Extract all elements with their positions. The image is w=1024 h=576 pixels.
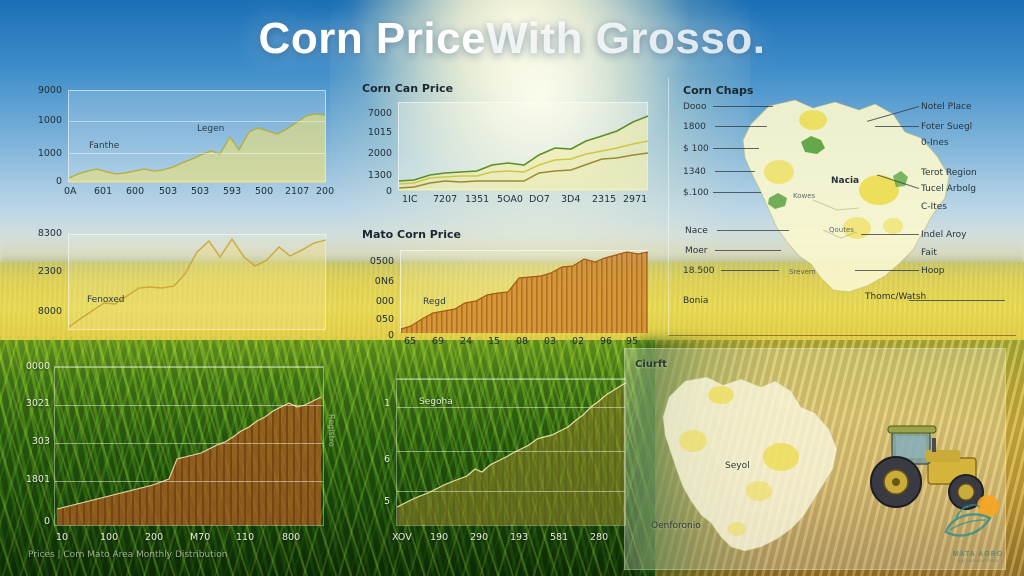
logo-name: MATA AGRO	[936, 551, 1020, 558]
tractor-window	[896, 436, 926, 458]
leader-line	[715, 250, 781, 251]
chart4-ytick-1: 0N6	[354, 276, 394, 287]
chart6-ytick-2: 5	[364, 496, 390, 507]
chart2-ytick-1: 1015	[352, 127, 392, 138]
leader-line	[713, 106, 773, 107]
chart2-xtick-0: 1IC	[402, 194, 417, 205]
chart6-xtick-2: 290	[470, 532, 488, 543]
map-top-right-label-5: C-Ites	[921, 202, 947, 212]
chart5-ytick-1: 3021	[10, 398, 50, 409]
chart2-title: Corn Can Price	[362, 82, 453, 95]
map-top-left-label-5: Nace	[685, 226, 708, 236]
map-top-right-label-8: Hoop	[921, 266, 945, 276]
logo-mark-icon	[936, 492, 1020, 550]
leader-line	[861, 234, 919, 235]
gridline	[397, 491, 625, 492]
chart1-xtick-1: 601	[94, 186, 112, 197]
map-top-left-label-1: 1800	[683, 122, 706, 132]
chart5-plot-area	[54, 366, 324, 526]
leader-line	[721, 270, 779, 271]
chart2-ytick-4: 0	[352, 186, 392, 197]
chart5-xtick-3: M70	[190, 532, 210, 543]
map-hotzone	[679, 430, 707, 452]
chart5-xtick-4: 110	[236, 532, 254, 543]
chart5-vertical-label: Registro	[327, 414, 336, 447]
chart4-xtick-7: 96	[600, 336, 612, 347]
page-title: Corn PriceWith Grosso.	[0, 14, 1024, 64]
map-top-right-label-0: Notel Place	[921, 102, 972, 112]
chart1-xtick-0: 0A	[64, 186, 77, 197]
map-top-bottom-label-0: Bonia	[683, 296, 708, 306]
chart1-xtick-5: 593	[223, 186, 241, 197]
chart1-annotation-0: Fanthe	[89, 141, 119, 151]
chart3-ytick-1: 2300	[18, 266, 62, 277]
chart5-xtick-5: 800	[282, 532, 300, 543]
chart5-ytick-3: 1801	[10, 474, 50, 485]
chart6-ytick-1: 6	[364, 454, 390, 465]
infographic-stage: Corn PriceWith Grosso. 9000 1000 1000 0 …	[0, 0, 1024, 576]
chart4-ytick-3: 050	[354, 314, 394, 325]
chart1-ytick-0: 9000	[18, 85, 62, 96]
chart5-xtick-2: 200	[145, 532, 163, 543]
map-top-left-label-2: $ 100	[683, 144, 709, 154]
chart4-ytick-0: 0500	[354, 256, 394, 267]
leader-line	[713, 192, 761, 193]
chart1-annotation-1: Legen	[197, 124, 224, 134]
chart2-xtick-3: 5OA0	[497, 194, 523, 205]
chart1-xtick-4: 503	[191, 186, 209, 197]
map-top-right-label-1: Foter Suegl	[921, 122, 972, 132]
gridline	[55, 405, 323, 406]
chart2-xtick-2: 1351	[465, 194, 489, 205]
gridline	[397, 407, 625, 408]
brand-logo: MATA AGRO Agricultural Data	[936, 492, 1020, 570]
leader-line	[715, 171, 755, 172]
chart2-series-svg	[399, 103, 649, 191]
chart3-ytick-0: 8300	[18, 228, 62, 239]
chart2-ytick-0: 7000	[352, 108, 392, 119]
chart4-xtick-0: 65	[404, 336, 416, 347]
chart2-xtick-6: 2315	[592, 194, 616, 205]
map-hotzone	[746, 481, 772, 501]
map-top-right-label-3: Terot Region	[921, 168, 977, 178]
map-bottom-bottom-label: Oenforonio	[651, 521, 701, 531]
chart4-plot-area: Regd	[400, 250, 648, 332]
map-hotzone	[708, 386, 734, 404]
chart1-xtick-2: 600	[126, 186, 144, 197]
chart6-xtick-0: XOV	[392, 532, 412, 543]
chart4-xtick-5: 03	[544, 336, 556, 347]
map-top-right-label-7: Fait	[921, 248, 937, 258]
chart2-xtick-7: 2971	[623, 194, 647, 205]
chart2-ytick-3: 1300	[352, 170, 392, 181]
map-top-left-label-4: $.100	[683, 188, 709, 198]
gridline	[69, 121, 325, 122]
chart1-xtick-6: 500	[255, 186, 273, 197]
chart5-ytick-4: 0	[10, 516, 50, 527]
map-hotzone	[763, 443, 799, 471]
chart5-ytick-0: 0000	[10, 361, 50, 372]
chart3-series-svg	[69, 235, 327, 331]
chart6-plot-area: Segoha	[396, 378, 626, 526]
map-top-inner-label-1: Qoutes	[829, 226, 854, 234]
map-hotzone	[883, 218, 903, 234]
chart5-xtick-0: 10	[56, 532, 68, 543]
chart6-ytick-0: 1	[364, 398, 390, 409]
tractor-roof	[888, 426, 936, 433]
leader-line	[909, 300, 1005, 301]
chart1-ytick-1: 1000	[18, 115, 62, 126]
logo-tagline: Agricultural Data	[936, 558, 1020, 563]
map-hotzone	[764, 160, 794, 184]
gridline	[397, 451, 625, 452]
map-hotzone	[799, 110, 827, 130]
chart4-series-svg	[401, 251, 649, 333]
map-top-center-label: Nacia	[831, 176, 859, 186]
chart2-xtick-1: 7207	[433, 194, 457, 205]
chart4-xtick-3: 15	[488, 336, 500, 347]
chart6-annotation-0: Segoha	[419, 397, 453, 407]
leaf-icon	[946, 514, 990, 535]
map-top-left-label-7: 18.500	[683, 266, 715, 276]
chart4-xtick-2: 24	[460, 336, 472, 347]
chart2-xtick-4: DO7	[529, 194, 550, 205]
gridline	[69, 153, 325, 154]
chart6-xtick-3: 193	[510, 532, 528, 543]
map-top-inner-label-0: Kowes	[793, 192, 815, 200]
page-title-overlap: With Grosso.	[486, 14, 765, 63]
map-bottom-center-label: Seyol	[725, 461, 750, 471]
chart-panel-5: 0000 3021 303 1801 0 10 100 200	[12, 356, 352, 556]
gridline	[55, 481, 323, 482]
chart-panel-4: Mato Corn Price 0500 0N6 000 050 0 Regd …	[358, 228, 658, 350]
chart6-xtick-1: 190	[430, 532, 448, 543]
map-top-left-label-6: Moer	[685, 246, 708, 256]
chart5-xtick-1: 100	[100, 532, 118, 543]
chart-panel-3: 8300 2300 8000 Fenoxed	[22, 228, 334, 348]
chart1-plot-area: Fanthe Legen	[68, 90, 326, 182]
tractor-hood	[926, 450, 960, 462]
chart4-xtick-4: 08	[516, 336, 528, 347]
chart6-xtick-5: 280	[590, 532, 608, 543]
leader-line	[717, 230, 789, 231]
chart4-annotation-0: Regd	[423, 297, 446, 307]
chart2-plot-area	[398, 102, 648, 190]
leader-line	[855, 270, 919, 271]
chart4-ytick-4: 0	[354, 330, 394, 341]
chart1-ytick-2: 1000	[18, 148, 62, 159]
map-panel-top: Corn Chaps Nacia Kowes Qoutes Srevem Doo…	[668, 78, 1016, 336]
chart4-xtick-8: 95	[626, 336, 638, 347]
chart1-xtick-8: 200	[316, 186, 334, 197]
footer-caption: Prices | Corn Mato Area Monthly Distribu…	[28, 550, 227, 560]
chart3-plot-area: Fenoxed	[68, 234, 326, 330]
chart2-xtick-5: 3D4	[561, 194, 580, 205]
chart3-ytick-2: 8000	[18, 306, 62, 317]
chart6-xtick-4: 581	[550, 532, 568, 543]
chart-panel-1: 9000 1000 1000 0 Fanthe Legen 0A 601 600…	[22, 82, 334, 202]
chart3-annotation-0: Fenoxed	[87, 295, 124, 305]
chart1-series-svg	[69, 91, 327, 183]
leader-line	[715, 126, 767, 127]
chart1-xtick-7: 2107	[285, 186, 309, 197]
page-title-main: Corn Price	[259, 14, 487, 63]
map-top-right-label-4: Tucel Arbolg	[921, 184, 976, 194]
gridline	[55, 367, 323, 368]
chart1-ytick-3: 0	[18, 176, 62, 187]
map-top-left-label-3: 1340	[683, 167, 706, 177]
map-top-right-label-2: 0-Ines	[921, 138, 949, 148]
chart4-title: Mato Corn Price	[362, 228, 461, 241]
map-top-left-label-0: Dooo	[683, 102, 706, 112]
chart4-ytick-2: 000	[354, 296, 394, 307]
map-top-inner-label-2: Srevem	[789, 268, 816, 276]
gridline	[55, 443, 323, 444]
chart2-ytick-2: 2000	[352, 148, 392, 159]
sun-icon	[977, 495, 999, 517]
leader-line	[875, 126, 919, 127]
chart4-xtick-1: 69	[432, 336, 444, 347]
map-top-right-label-6: Indel Aroy	[921, 230, 966, 240]
map-hotzone	[728, 522, 746, 536]
chart1-xtick-3: 503	[159, 186, 177, 197]
chart5-bars-svg	[55, 367, 325, 527]
gridline	[397, 379, 625, 380]
leader-line	[713, 148, 759, 149]
chart5-ytick-2: 303	[10, 436, 50, 447]
chart-panel-2: Corn Can Price 7000 1015 2000 1300 0 1IC…	[358, 82, 658, 210]
tractor-exhaust	[932, 438, 936, 452]
chart4-xtick-6: 02	[572, 336, 584, 347]
chart-panel-6: 1 6 5 Segoha XOV 190 290 193	[360, 356, 640, 556]
